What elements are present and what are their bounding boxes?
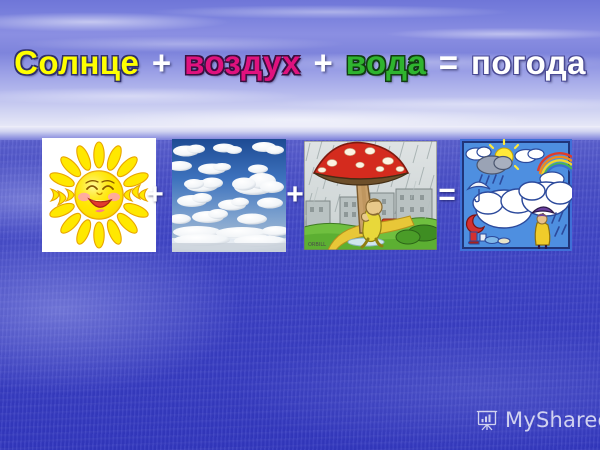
title-word-water: вода: [346, 44, 426, 81]
slide-canvas: Солнце + воздух + вода = погода: [0, 0, 600, 450]
title-word-weather: погода: [471, 44, 586, 81]
clouds-photo: [172, 139, 286, 252]
presentation-chart-icon: [476, 409, 498, 431]
operator-equals: =: [434, 136, 460, 254]
equation-row: +: [0, 136, 600, 254]
sun-illustration: [42, 138, 156, 252]
svg-text:ORBILL: ORBILL: [308, 242, 326, 248]
title-operator-plus-1: +: [149, 44, 175, 81]
rain-illustration: ORBILL: [304, 141, 437, 250]
rain-mushroom-icon: ORBILL: [304, 141, 437, 250]
title-word-sun: Солнце: [14, 44, 139, 81]
weather-collage-icon: [460, 139, 572, 251]
operator-plus-1: +: [142, 136, 168, 254]
title-operator-plus-2: +: [310, 44, 336, 81]
title-word-air: воздух: [184, 44, 301, 81]
weather-collage: [460, 139, 572, 251]
slide-title: Солнце + воздух + вода = погода: [0, 44, 600, 82]
title-operator-equals: =: [436, 44, 462, 81]
sun-smiling-icon: [42, 138, 156, 252]
myshared-label: MyShared: [505, 408, 600, 432]
clouds-photo-icon: [172, 139, 286, 252]
myshared-watermark: MyShared: [476, 408, 600, 432]
